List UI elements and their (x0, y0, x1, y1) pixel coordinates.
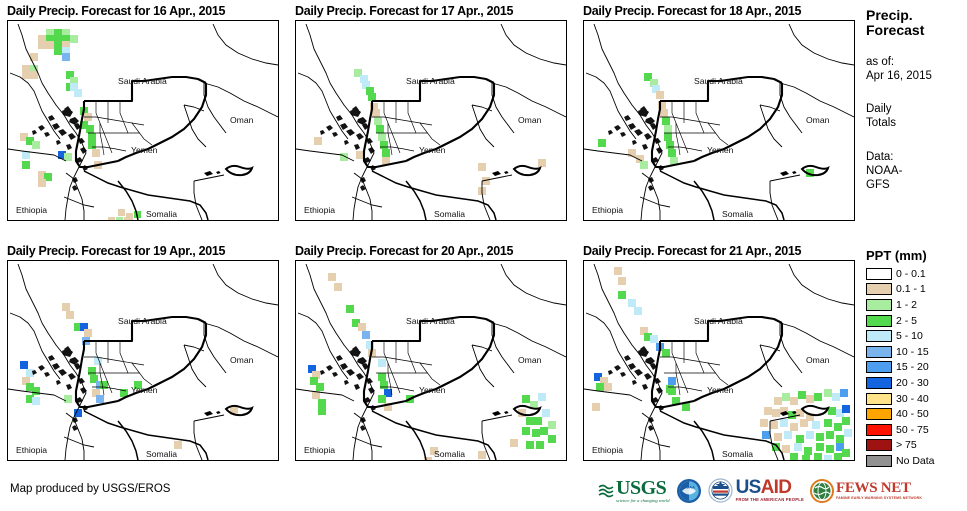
map-label-ethiopia: Ethiopia (304, 205, 335, 215)
map-label-yemen: Yemen (419, 385, 445, 395)
legend-swatch (866, 361, 892, 373)
precip-legend: PPT (mm) 0 - 0.10.1 - 11 - 22 - 55 - 101… (862, 248, 967, 469)
legend-label: 10 - 15 (896, 346, 929, 358)
map-canvas: Saudi ArabiaOmanYemenEthiopiaSomalia (8, 21, 278, 220)
legend-swatch (866, 408, 892, 420)
legend-swatch (866, 393, 892, 405)
map-credit: Map produced by USGS/EROS (10, 483, 170, 495)
legend-row: 2 - 5 (866, 313, 967, 329)
noaa-logo: NOAA (676, 476, 702, 506)
map-label-oman: Oman (806, 115, 829, 125)
totals-line2: Totals (866, 116, 896, 130)
legend-row: No Data (866, 453, 967, 469)
map-label-oman: Oman (230, 115, 253, 125)
usgs-wordmark: USGS (616, 479, 666, 498)
map-label-saudi-arabia: Saudi Arabia (118, 316, 167, 326)
panel-title-2: Daily Precip. Forecast for 17 Apr., 2015 (295, 4, 513, 18)
legend-row: 20 - 30 (866, 375, 967, 391)
sidebar-title: Precip. Forecast (866, 8, 924, 38)
fewsnet-globe-icon (810, 479, 834, 503)
legend-row: 40 - 50 (866, 406, 967, 422)
map-label-somalia: Somalia (146, 449, 177, 459)
sidebar-title-line1: Precip. (866, 8, 924, 23)
legend-row: 10 - 15 (866, 344, 967, 360)
legend-row: 1 - 2 (866, 297, 967, 313)
usaid-seal-icon (708, 478, 733, 503)
legend-label: 1 - 2 (896, 299, 917, 311)
legend-swatch (866, 299, 892, 311)
legend-swatch (866, 377, 892, 389)
legend-label: 0.1 - 1 (896, 283, 926, 295)
totals-line1: Daily (866, 102, 896, 116)
legend-swatch (866, 330, 892, 342)
legend-label: 20 - 30 (896, 377, 929, 389)
legend-swatch (866, 268, 892, 280)
map-label-yemen: Yemen (131, 385, 157, 395)
panel-title-1: Daily Precip. Forecast for 16 Apr., 2015 (7, 4, 225, 18)
legend-label: 0 - 0.1 (896, 268, 926, 280)
map-label-somalia: Somalia (722, 449, 753, 459)
noaa-seal-icon: NOAA (676, 478, 702, 504)
map-label-ethiopia: Ethiopia (16, 445, 47, 455)
legend-swatch (866, 315, 892, 327)
map-label-saudi-arabia: Saudi Arabia (406, 76, 455, 86)
panel-title-5: Daily Precip. Forecast for 20 Apr., 2015 (295, 244, 513, 258)
panel-title-3: Daily Precip. Forecast for 18 Apr., 2015 (583, 4, 801, 18)
legend-swatch (866, 346, 892, 358)
legend-label: 30 - 40 (896, 393, 929, 405)
fewsnet-wordmark: FEWS NET (836, 481, 911, 496)
as-of-block: as of: Apr 16, 2015 (866, 55, 932, 83)
as-of-date: Apr 16, 2015 (866, 69, 932, 83)
legend-row: 15 - 20 (866, 360, 967, 376)
usaid-logo: USAID FROM THE AMERICAN PEOPLE (708, 476, 804, 506)
map-label-somalia: Somalia (722, 209, 753, 219)
map-label-yemen: Yemen (707, 385, 733, 395)
map-label-somalia: Somalia (434, 449, 465, 459)
map-label-somalia: Somalia (434, 209, 465, 219)
map-canvas: Saudi ArabiaOmanYemenEthiopiaSomalia (296, 261, 566, 460)
fewsnet-tagline: FAMINE EARLY WARNING SYSTEMS NETWORK (836, 496, 922, 500)
map-label-saudi-arabia: Saudi Arabia (118, 76, 167, 86)
sidebar: Precip. Forecast as of: Apr 16, 2015 Dai… (862, 0, 967, 511)
legend-label: > 75 (896, 439, 917, 451)
map-label-oman: Oman (518, 355, 541, 365)
usgs-logo: USGS science for a changing world (598, 476, 670, 506)
map-frame-6: Saudi ArabiaOmanYemenEthiopiaSomalia (583, 260, 855, 461)
map-label-saudi-arabia: Saudi Arabia (694, 76, 743, 86)
legend-label: 15 - 20 (896, 361, 929, 373)
map-label-saudi-arabia: Saudi Arabia (694, 316, 743, 326)
legend-label: No Data (896, 455, 935, 467)
panel-title-6: Daily Precip. Forecast for 21 Apr., 2015 (583, 244, 801, 258)
agency-logos: USGS science for a changing world NOAA U… (598, 474, 922, 507)
usgs-tagline: science for a changing world (616, 498, 670, 503)
map-label-ethiopia: Ethiopia (592, 205, 623, 215)
data-source-line1: NOAA- (866, 164, 902, 178)
map-frame-5: Saudi ArabiaOmanYemenEthiopiaSomalia (295, 260, 567, 461)
map-label-ethiopia: Ethiopia (304, 445, 335, 455)
legend-swatch (866, 424, 892, 436)
legend-rows: 0 - 0.10.1 - 11 - 22 - 55 - 1010 - 1515 … (862, 266, 967, 469)
legend-swatch (866, 455, 892, 467)
legend-row: 0 - 0.1 (866, 266, 967, 282)
as-of-label: as of: (866, 55, 932, 69)
totals-block: Daily Totals (866, 102, 896, 130)
data-source-label: Data: (866, 150, 902, 164)
map-label-yemen: Yemen (131, 145, 157, 155)
map-canvas: Saudi ArabiaOmanYemenEthiopiaSomalia (8, 261, 278, 460)
legend-row: > 75 (866, 438, 967, 454)
legend-label: 2 - 5 (896, 315, 917, 327)
usaid-tagline: FROM THE AMERICAN PEOPLE (736, 497, 804, 502)
svg-text:NOAA: NOAA (683, 484, 695, 489)
legend-row: 50 - 75 (866, 422, 967, 438)
data-source-line2: GFS (866, 178, 902, 192)
usgs-wave-icon (598, 483, 614, 499)
legend-label: 40 - 50 (896, 408, 929, 420)
legend-title: PPT (mm) (866, 248, 967, 263)
panel-title-4: Daily Precip. Forecast for 19 Apr., 2015 (7, 244, 225, 258)
map-label-yemen: Yemen (707, 145, 733, 155)
map-label-ethiopia: Ethiopia (592, 445, 623, 455)
map-frame-3: Saudi ArabiaOmanYemenEthiopiaSomalia (583, 20, 855, 221)
map-canvas: Saudi ArabiaOmanYemenEthiopiaSomalia (296, 21, 566, 220)
legend-row: 30 - 40 (866, 391, 967, 407)
map-frame-1: Saudi ArabiaOmanYemenEthiopiaSomalia (7, 20, 279, 221)
map-canvas: Saudi ArabiaOmanYemenEthiopiaSomalia (584, 21, 854, 220)
map-label-somalia: Somalia (146, 209, 177, 219)
legend-swatch (866, 439, 892, 451)
usaid-word-us: US (736, 477, 761, 498)
map-canvas: Saudi ArabiaOmanYemenEthiopiaSomalia (584, 261, 854, 460)
legend-row: 0.1 - 1 (866, 282, 967, 298)
data-source-block: Data: NOAA- GFS (866, 150, 902, 192)
map-label-saudi-arabia: Saudi Arabia (406, 316, 455, 326)
map-frame-2: Saudi ArabiaOmanYemenEthiopiaSomalia (295, 20, 567, 221)
legend-row: 5 - 10 (866, 328, 967, 344)
map-label-oman: Oman (806, 355, 829, 365)
map-label-yemen: Yemen (419, 145, 445, 155)
legend-label: 5 - 10 (896, 330, 923, 342)
map-label-oman: Oman (230, 355, 253, 365)
map-label-ethiopia: Ethiopia (16, 205, 47, 215)
legend-label: 50 - 75 (896, 424, 929, 436)
usaid-word-aid: AID (761, 477, 792, 498)
legend-swatch (866, 283, 892, 295)
map-label-oman: Oman (518, 115, 541, 125)
sidebar-title-line2: Forecast (866, 23, 924, 38)
map-frame-4: Saudi ArabiaOmanYemenEthiopiaSomalia (7, 260, 279, 461)
usaid-wordmark: USAID (736, 479, 792, 497)
fewsnet-logo: FEWS NET FAMINE EARLY WARNING SYSTEMS NE… (810, 476, 922, 506)
